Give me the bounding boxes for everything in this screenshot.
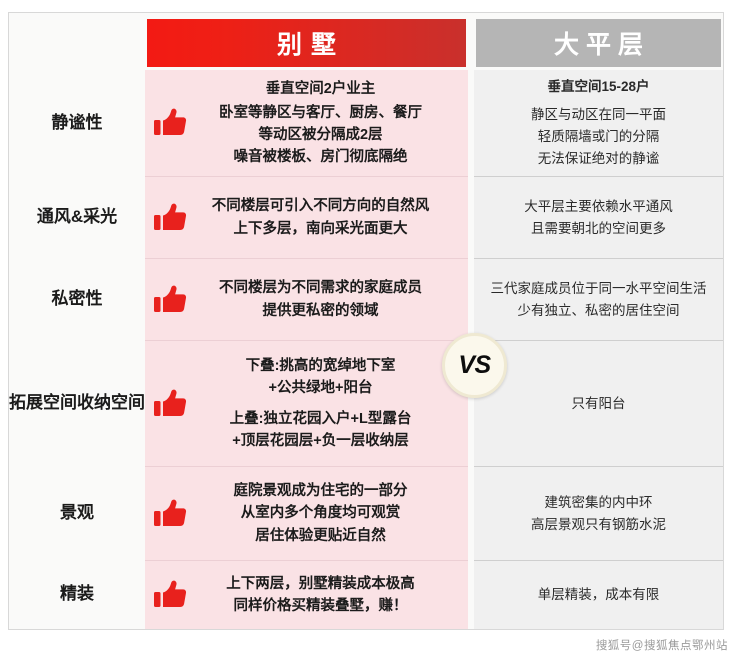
row-label-line: 通风&采光 <box>37 206 117 229</box>
villa-text: 垂直空间2户业主卧室等静区与客厅、厨房、餐厅等动区被分隔成2层噪音被楼板、房门彻… <box>189 78 458 168</box>
row-label-line: 静谧性 <box>52 112 103 135</box>
villa-line: +公共绿地+阳台 <box>269 380 373 396</box>
row-label: 静谧性 <box>9 70 145 176</box>
row-label-line: 拓展空间 <box>9 392 77 415</box>
villa-text: 下叠:挑高的宽绰地下室+公共绿地+阳台上叠:独立花园入户+L型露台+顶层花园层+… <box>189 355 458 452</box>
flat-text: 三代家庭成员位于同一水平空间生活少有独立、私密的居住空间 <box>491 278 707 322</box>
vs-badge-label: VS <box>458 351 490 380</box>
flat-line: 建筑密集的内中环 <box>531 492 666 514</box>
row-label-line: 精装 <box>60 583 94 606</box>
watermark: 搜狐号@搜狐焦点鄂州站 <box>596 637 728 653</box>
flat-line: 少有独立、私密的居住空间 <box>491 300 707 322</box>
header-flat-label: 大平层 <box>547 25 650 61</box>
thumbs-up-icon <box>153 284 187 316</box>
villa-column: 垂直空间2户业主卧室等静区与客厅、厨房、餐厅等动区被分隔成2层噪音被楼板、房门彻… <box>145 70 468 629</box>
row-label-line: 收纳空间 <box>77 392 145 415</box>
villa-text: 不同楼层可引入不同方向的自然风上下多层，南向采光面更大 <box>189 195 458 239</box>
row-label: 景观 <box>9 466 145 560</box>
comparison-panel: 别墅 大平层 静谧性通风&采光私密性拓展空间收纳空间景观精装 垂直空间2户业主卧… <box>8 12 724 630</box>
flat-cell: 建筑密集的内中环高层景观只有钢筋水泥 <box>474 466 723 560</box>
flat-text: 大平层主要依赖水平通风且需要朝北的空间更多 <box>524 196 673 240</box>
villa-cell: 下叠:挑高的宽绰地下室+公共绿地+阳台上叠:独立花园入户+L型露台+顶层花园层+… <box>145 340 468 466</box>
row-label: 精装 <box>9 560 145 629</box>
flat-line: 单层精装，成本有限 <box>538 584 660 606</box>
header-spacer <box>9 13 145 70</box>
thumbs-up-icon <box>153 202 187 234</box>
thumbs-up-icon <box>153 498 187 530</box>
flat-line: 三代家庭成员位于同一水平空间生活 <box>491 278 707 300</box>
villa-block: 上叠:独立花园入户+L型露台+顶层花园层+负一层收纳层 <box>189 408 452 452</box>
header-column-gap <box>468 13 474 70</box>
villa-lead: 垂直空间2户业主 <box>189 78 452 100</box>
villa-text: 不同楼层为不同需求的家庭成员提供更私密的领域 <box>189 277 458 321</box>
villa-block: 下叠:挑高的宽绰地下室+公共绿地+阳台 <box>189 355 452 399</box>
flat-line: 轻质隔墙或门的分隔 <box>531 126 666 148</box>
row-label: 私密性 <box>9 258 145 340</box>
row-label-column: 静谧性通风&采光私密性拓展空间收纳空间景观精装 <box>9 70 145 629</box>
flat-text: 单层精装，成本有限 <box>538 584 660 606</box>
flat-line: 高层景观只有钢筋水泥 <box>531 514 666 536</box>
villa-line: 噪音被楼板、房门彻底隔绝 <box>189 146 452 168</box>
flat-cell: 大平层主要依赖水平通风且需要朝北的空间更多 <box>474 176 723 258</box>
thumbs-up-icon <box>153 579 187 611</box>
villa-line: 卧室等静区与客厅、厨房、餐厅 <box>189 102 452 124</box>
villa-line: 上下两层，别墅精装成本极高 <box>189 573 452 595</box>
flat-cell: 三代家庭成员位于同一水平空间生活少有独立、私密的居住空间 <box>474 258 723 340</box>
villa-text: 庭院景观成为住宅的一部分从室内多个角度均可观赏居住体验更贴近自然 <box>189 480 458 546</box>
villa-cell: 上下两层，别墅精装成本极高同样价格买精装叠墅，赚！ <box>145 560 468 629</box>
villa-line: 不同楼层为不同需求的家庭成员 <box>189 277 452 299</box>
header-villa: 别墅 <box>147 19 466 67</box>
comparison-grid: 别墅 大平层 静谧性通风&采光私密性拓展空间收纳空间景观精装 垂直空间2户业主卧… <box>9 13 723 629</box>
villa-line: 提供更私密的领域 <box>189 300 452 322</box>
thumbs-up-icon <box>153 388 187 420</box>
villa-line: 等动区被分隔成2层 <box>189 124 452 146</box>
flat-text: 垂直空间15-28户静区与动区在同一平面轻质隔墙或门的分隔无法保证绝对的静谧 <box>531 76 666 169</box>
villa-line: 庭院景观成为住宅的一部分 <box>189 480 452 502</box>
villa-line: 同样价格买精装叠墅，赚！ <box>189 595 452 617</box>
villa-line: 上叠:独立花园入户+L型露台 <box>230 411 412 427</box>
flat-line: 大平层主要依赖水平通风 <box>524 196 673 218</box>
flat-line: 且需要朝北的空间更多 <box>524 218 673 240</box>
villa-cell: 不同楼层为不同需求的家庭成员提供更私密的领域 <box>145 258 468 340</box>
flat-column: 垂直空间15-28户静区与动区在同一平面轻质隔墙或门的分隔无法保证绝对的静谧大平… <box>474 70 723 629</box>
villa-text: 上下两层，别墅精装成本极高同样价格买精装叠墅，赚！ <box>189 573 458 617</box>
flat-line: 无法保证绝对的静谧 <box>531 148 666 170</box>
row-label: 通风&采光 <box>9 176 145 258</box>
villa-line: 居住体验更贴近自然 <box>189 525 452 547</box>
flat-text: 只有阳台 <box>572 393 626 415</box>
vs-badge: VS <box>442 333 507 398</box>
villa-line: 下叠:挑高的宽绰地下室 <box>246 358 396 374</box>
villa-cell: 庭院景观成为住宅的一部分从室内多个角度均可观赏居住体验更贴近自然 <box>145 466 468 560</box>
thumbs-up-icon <box>153 107 187 139</box>
villa-line: +顶层花园层+负一层收纳层 <box>232 433 408 449</box>
flat-cell: 只有阳台 <box>474 340 723 466</box>
row-label-line: 私密性 <box>52 288 103 311</box>
row-label: 拓展空间收纳空间 <box>9 340 145 466</box>
flat-cell: 单层精装，成本有限 <box>474 560 723 629</box>
header-villa-label: 别墅 <box>268 25 345 61</box>
villa-line: 不同楼层可引入不同方向的自然风 <box>189 195 452 217</box>
flat-line: 静区与动区在同一平面 <box>531 104 666 126</box>
villa-cell: 垂直空间2户业主卧室等静区与客厅、厨房、餐厅等动区被分隔成2层噪音被楼板、房门彻… <box>145 70 468 176</box>
villa-line: 从室内多个角度均可观赏 <box>189 502 452 524</box>
flat-text: 建筑密集的内中环高层景观只有钢筋水泥 <box>531 492 666 536</box>
row-label-line: 景观 <box>60 502 94 525</box>
villa-line: 上下多层，南向采光面更大 <box>189 218 452 240</box>
flat-line: 只有阳台 <box>572 393 626 415</box>
flat-cell: 垂直空间15-28户静区与动区在同一平面轻质隔墙或门的分隔无法保证绝对的静谧 <box>474 70 723 176</box>
header-flat: 大平层 <box>476 19 721 67</box>
flat-lead: 垂直空间15-28户 <box>531 76 666 98</box>
comparison-infographic: 别墅 大平层 静谧性通风&采光私密性拓展空间收纳空间景观精装 垂直空间2户业主卧… <box>0 0 740 661</box>
villa-cell: 不同楼层可引入不同方向的自然风上下多层，南向采光面更大 <box>145 176 468 258</box>
